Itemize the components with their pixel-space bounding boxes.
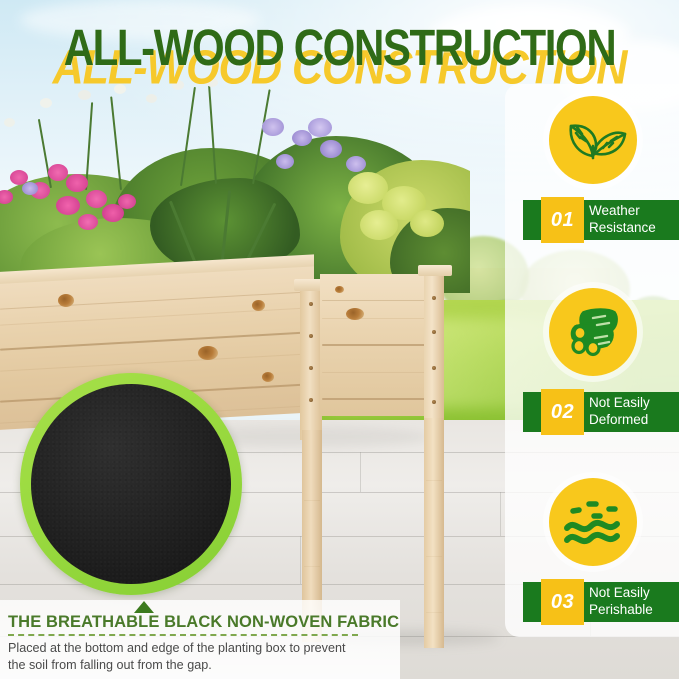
- feature-item-01[interactable]: 01 Weather Resistance: [505, 96, 679, 246]
- fabric-closeup-swatch: [31, 384, 231, 584]
- screw: [432, 366, 436, 370]
- feature-label: Not Easily Perishable: [589, 584, 653, 618]
- waves-icon: [549, 478, 637, 566]
- feature-icon-circle: [549, 96, 637, 184]
- feature-number: 01: [541, 197, 584, 243]
- caption-body-line1: Placed at the bottom and edge of the pla…: [8, 640, 358, 657]
- screw: [309, 398, 313, 402]
- feature-label: Not Easily Deformed: [589, 394, 650, 428]
- leaves-icon: [549, 96, 637, 184]
- feature-number: 02: [541, 389, 584, 435]
- caption-heading: THE BREATHABLE BLACK NON-WOVEN FABRIC: [8, 613, 399, 632]
- feature-label-line1: Not Easily: [589, 584, 653, 601]
- wood-knot: [262, 372, 274, 382]
- feature-label-line2: Deformed: [589, 411, 650, 428]
- feature-label-line1: Weather: [589, 202, 656, 219]
- feature-item-02[interactable]: 02 Not Easily Deformed: [505, 288, 679, 438]
- fabric-closeup-ring: [20, 373, 242, 595]
- feature-label-bar: 02 Not Easily Deformed: [523, 392, 679, 432]
- caption-divider: [8, 634, 358, 636]
- paver-seam: [300, 536, 301, 584]
- paver-seam: [360, 452, 361, 492]
- caption-body: Placed at the bottom and edge of the pla…: [8, 640, 358, 674]
- feature-label-bar: 01 Weather Resistance: [523, 200, 679, 240]
- screw: [432, 400, 436, 404]
- screw: [309, 334, 313, 338]
- fabric-texture: [31, 384, 231, 584]
- screw: [309, 302, 313, 306]
- screw: [432, 330, 436, 334]
- promo-image: ALL-WOOD CONSTRUCTION ALL-WOOD CONSTRUCT…: [0, 0, 679, 679]
- wood-knot: [58, 294, 74, 307]
- logs-icon: [549, 288, 637, 376]
- feature-label-line1: Not Easily: [589, 394, 650, 411]
- feature-label: Weather Resistance: [589, 202, 656, 236]
- screw: [432, 296, 436, 300]
- feature-icon-circle: [549, 478, 637, 566]
- feature-icon-circle: [549, 288, 637, 376]
- feature-label-line2: Resistance: [589, 219, 656, 236]
- wood-knot: [346, 308, 364, 320]
- caption-pointer-triangle: [134, 601, 154, 613]
- planter-leg: [424, 418, 444, 648]
- screw: [309, 366, 313, 370]
- wood-knot: [335, 286, 344, 293]
- feature-label-bar: 03 Not Easily Perishable: [523, 582, 679, 622]
- planter-post-cap: [418, 265, 452, 276]
- title-block: ALL-WOOD CONSTRUCTION ALL-WOOD CONSTRUCT…: [0, 10, 679, 90]
- feature-item-03[interactable]: 03 Not Easily Perishable: [505, 478, 679, 628]
- wood-knot: [198, 346, 218, 360]
- paver-seam: [500, 492, 501, 536]
- planter-corner-post: [300, 286, 322, 440]
- feature-label-line2: Perishable: [589, 601, 653, 618]
- feature-number: 03: [541, 579, 584, 625]
- wood-knot: [252, 300, 265, 311]
- page-title: ALL-WOOD CONSTRUCTION: [0, 19, 679, 78]
- caption-body-line2: the soil from falling out from the gap.: [8, 657, 358, 674]
